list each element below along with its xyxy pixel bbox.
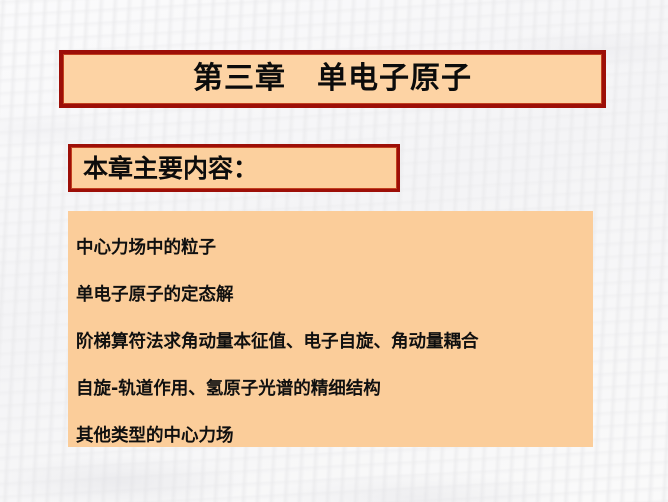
presentation-slide: 第三章 单电子原子 本章主要内容： 中心力场中的粒子 单电子原子的定态解 阶梯算…	[0, 0, 668, 502]
contents-list-item: 阶梯算符法求角动量本征值、电子自旋、角动量耦合	[76, 319, 593, 366]
contents-list-item: 单电子原子的定态解	[76, 272, 593, 319]
section-heading-text: 本章主要内容：	[71, 156, 258, 181]
contents-panel: 中心力场中的粒子 单电子原子的定态解 阶梯算符法求角动量本征值、电子自旋、角动量…	[68, 211, 593, 447]
contents-list-item: 中心力场中的粒子	[76, 225, 593, 272]
chapter-title-banner: 第三章 单电子原子	[59, 50, 606, 108]
contents-list-item: 其他类型的中心力场	[76, 413, 593, 460]
chapter-title-text: 第三章 单电子原子	[193, 64, 472, 94]
contents-list-item: 自旋-轨道作用、氢原子光谱的精细结构	[76, 366, 593, 413]
section-heading-box: 本章主要内容：	[68, 144, 400, 192]
